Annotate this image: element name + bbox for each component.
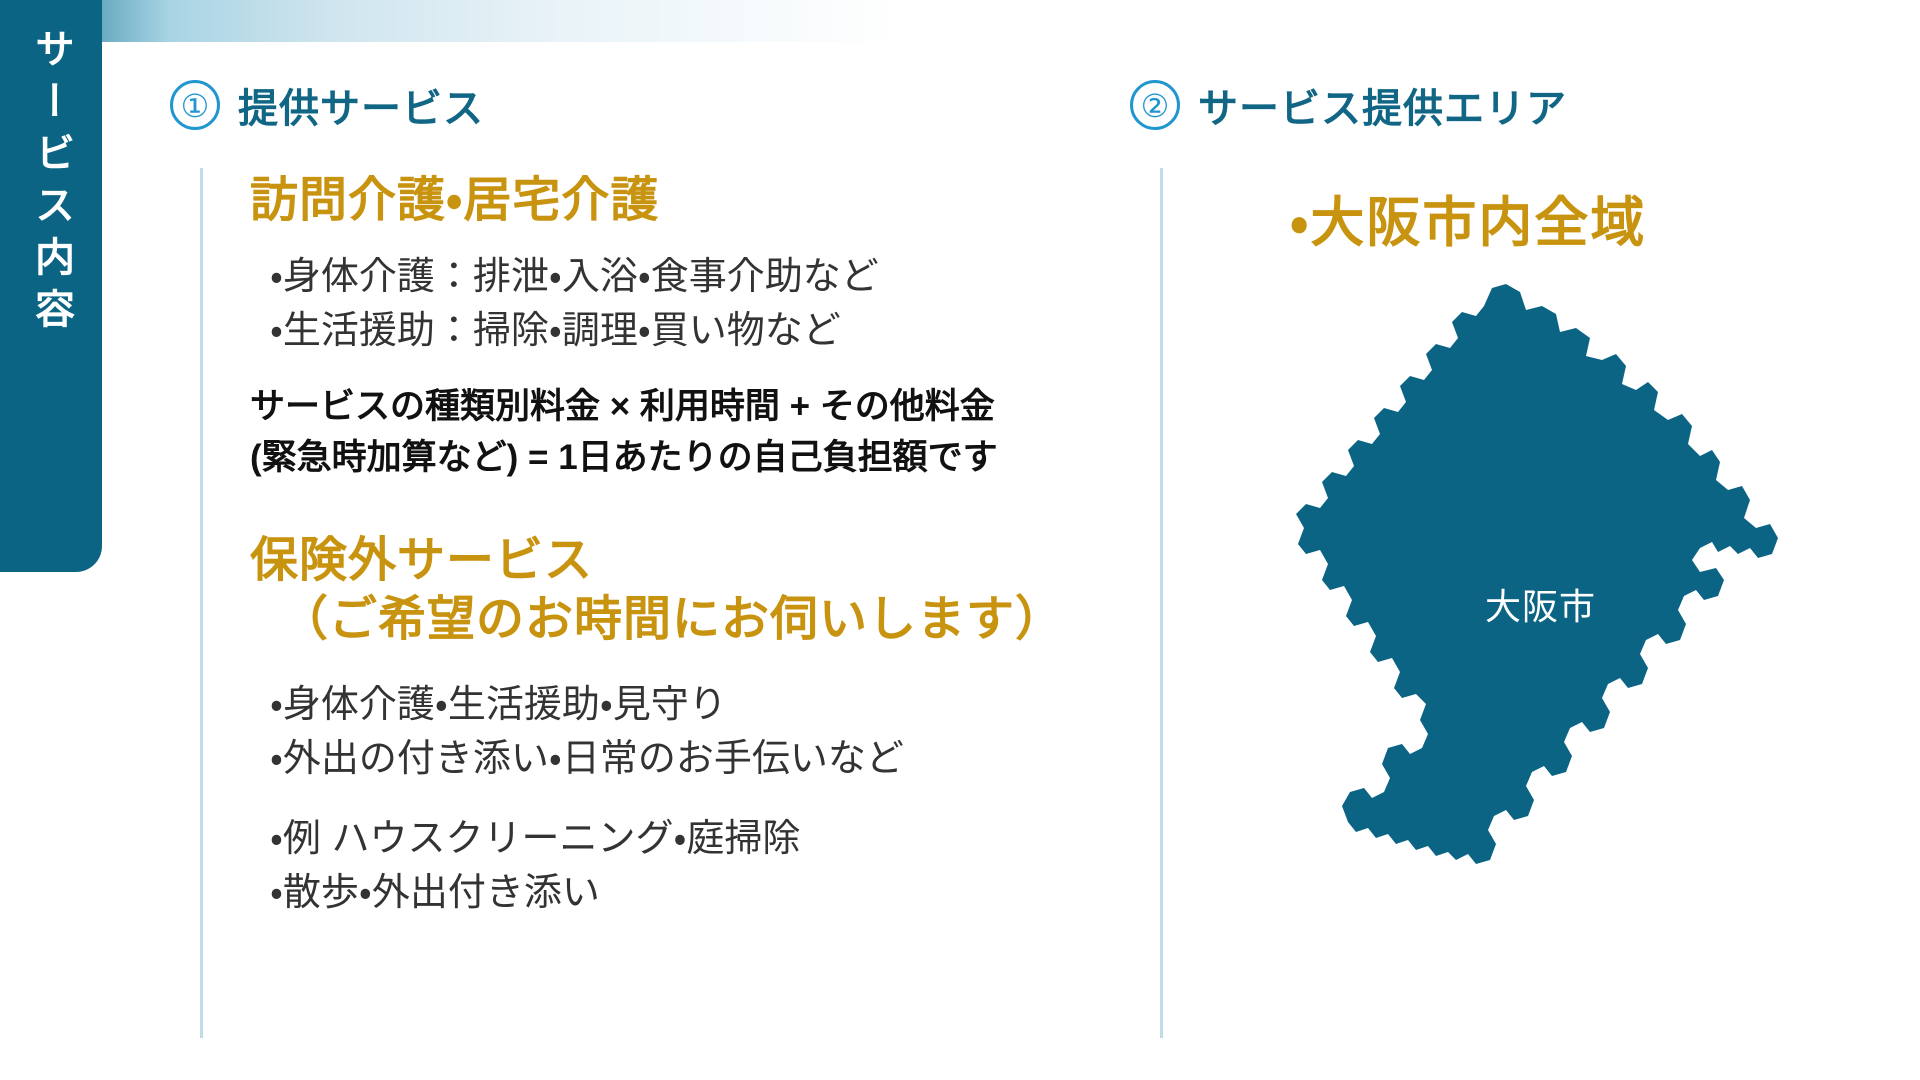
non-insured-bullet-list-a: ・身体介護・生活援助・見守り ・外出の付き添い・日常のお手伝いなど [250, 679, 1150, 787]
group-heading-non-insured: 保険外サービス [250, 532, 1150, 591]
group-subheading-non-insured: （ご希望のお時間にお伺いします） [250, 591, 1150, 650]
section-header-2: ② サービス提供エリア [1130, 76, 1567, 134]
list-item: ・外出の付き添い・日常のお手伝いなど [270, 733, 1150, 787]
list-item: ・散歩・外出付き添い [270, 867, 1150, 921]
section-title-2: サービス提供エリア [1198, 76, 1567, 134]
list-item: ・例 ハウスクリーニング・庭掃除 [270, 813, 1150, 867]
side-tab-label: サービス内容 [31, 28, 71, 340]
list-item: ・身体介護：排泄・入浴・食事介助など [270, 251, 1150, 305]
service-area-title: ・大阪市内全域 [1290, 178, 1646, 257]
pricing-formula: サービスの種類別料金 × 利用時間 + その他料金 (緊急時加算など) = 1日… [250, 382, 1150, 484]
top-gradient-strip [0, 0, 1920, 42]
non-insured-bullet-list-b: ・例 ハウスクリーニング・庭掃除 ・散歩・外出付き添い [250, 813, 1150, 921]
circle-number-2-icon: ② [1130, 80, 1180, 130]
pricing-formula-line-2: (緊急時加算など) = 1日あたりの自己負担額です [250, 433, 1150, 484]
circle-number-1-icon: ① [170, 80, 220, 130]
section-header-1: ① 提供サービス [170, 76, 484, 134]
osaka-city-silhouette [1296, 284, 1778, 864]
group-heading-home-care: 訪問介護・居宅介護 [250, 172, 1150, 231]
slide-root: サービス内容 ① 提供サービス ② サービス提供エリア 訪問介護・居宅介護 ・身… [0, 0, 1920, 1080]
map-shape-group [1296, 284, 1778, 864]
services-column: 訪問介護・居宅介護 ・身体介護：排泄・入浴・食事介助など ・生活援助：掃除・調理… [250, 172, 1150, 921]
pricing-formula-line-1: サービスの種類別料金 × 利用時間 + その他料金 [250, 382, 1150, 433]
home-care-bullet-list: ・身体介護：排泄・入浴・食事介助など ・生活援助：掃除・調理・買い物など [250, 251, 1150, 359]
list-item: ・生活援助：掃除・調理・買い物など [270, 305, 1150, 359]
map-label-osaka-city: 大阪市 [1485, 578, 1596, 630]
section-title-1: 提供サービス [238, 76, 484, 134]
side-tab: サービス内容 [0, 0, 102, 572]
divider-left [200, 168, 203, 1038]
list-item: ・身体介護・生活援助・見守り [270, 679, 1150, 733]
divider-right [1160, 168, 1163, 1038]
